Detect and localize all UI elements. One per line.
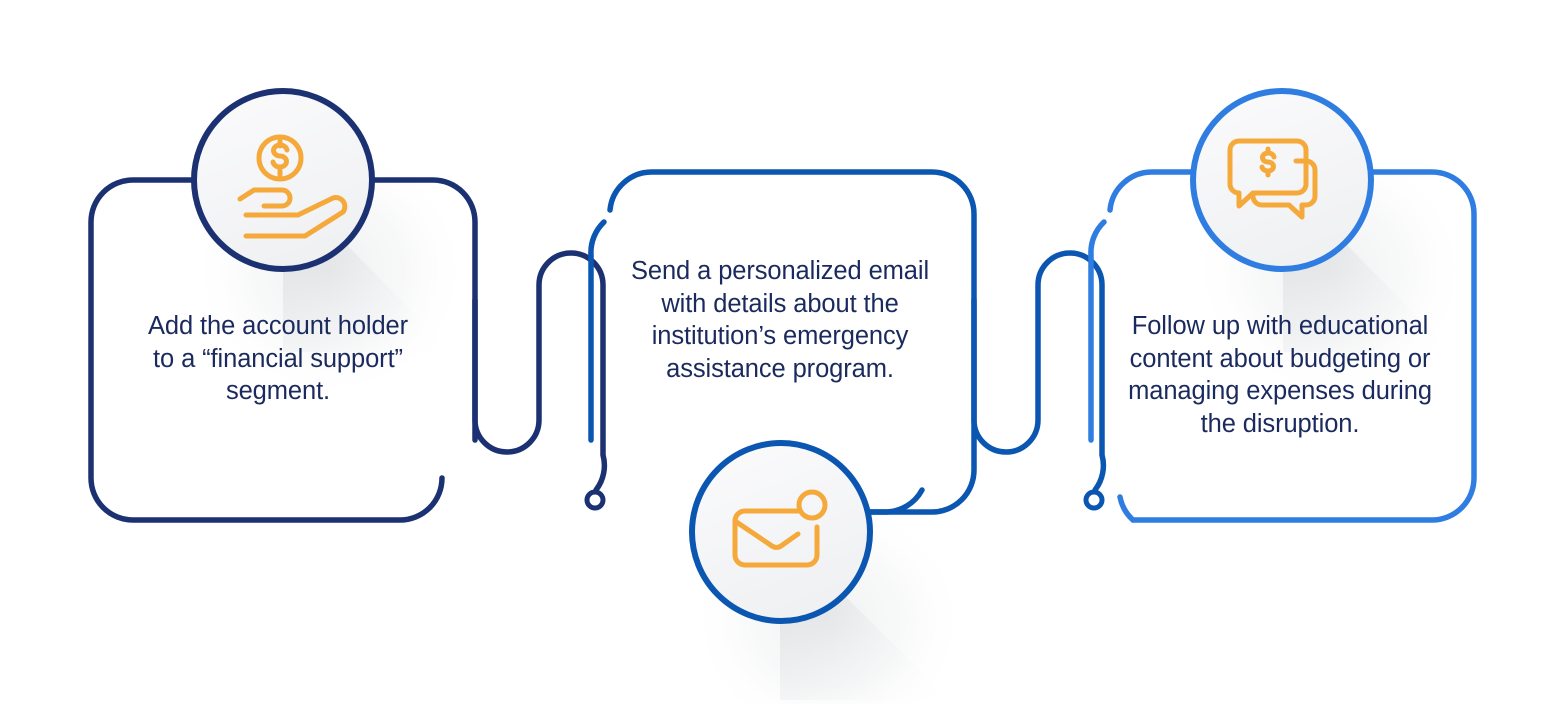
step-2-badge: [692, 443, 870, 621]
connector-1: [475, 253, 604, 490]
step-3-group: [1091, 91, 1474, 520]
infographic-canvas: Add the account holder to a “financial s…: [0, 0, 1563, 704]
step-1-group: [91, 91, 604, 520]
step-2-text: Send a personalized email with details a…: [594, 255, 966, 385]
step-2-group: [591, 172, 1103, 704]
step-3-card-bottom-left: [1120, 497, 1133, 520]
step-3-badge: [1193, 91, 1371, 269]
connector-2: [974, 253, 1103, 490]
step-1-text: Add the account holder to a “financial s…: [92, 310, 464, 408]
step-3-text: Follow up with educational content about…: [1094, 310, 1466, 440]
connector-2-endpoint: [1086, 492, 1102, 508]
connector-1-endpoint: [587, 492, 603, 508]
